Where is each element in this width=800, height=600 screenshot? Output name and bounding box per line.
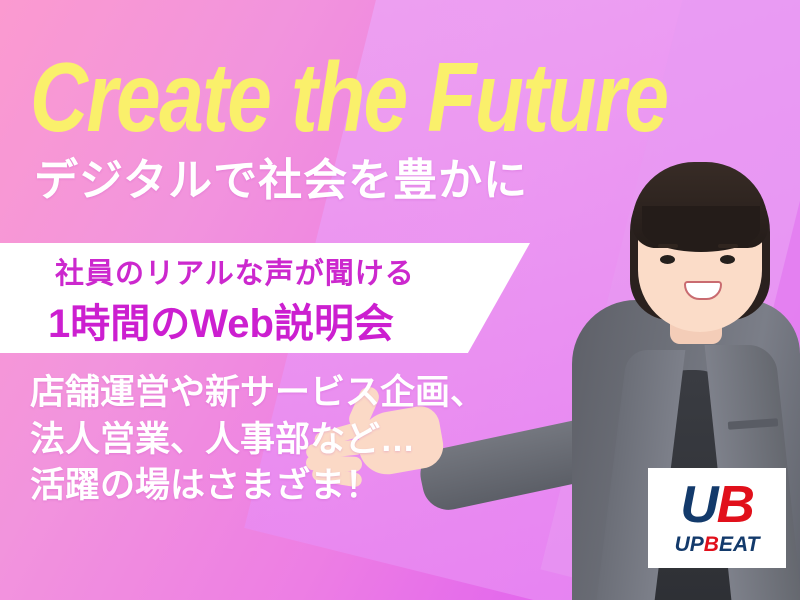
body-copy-line-1: 店舗運営や新サービス企画、 (30, 370, 485, 417)
smiling-mouth (684, 281, 722, 300)
body-copy-line-3: 活躍の場はさまざま！ (30, 463, 485, 510)
band-subheading: 社員のリアルな声が聞ける (55, 250, 415, 292)
hair-fringe (642, 206, 760, 252)
logo-wordmark: UPBEAT (675, 534, 760, 555)
logo-letter-b: B (717, 476, 753, 534)
blazer-pocket (728, 418, 778, 429)
face (638, 180, 762, 332)
eye-right (720, 255, 735, 264)
band-heading: 1時間のWeb説明会 (48, 291, 394, 349)
logo-word-up: UP (675, 533, 704, 556)
logo-letter-u: U (681, 476, 717, 534)
headline: Create the Future (30, 48, 667, 146)
neck (670, 288, 722, 344)
body-copy-line-2: 法人営業、人事部など… (30, 417, 485, 464)
hair-front (632, 162, 768, 248)
hair-back (630, 162, 770, 320)
eyebrow-right (718, 244, 738, 248)
logo-word-eat: EAT (719, 533, 759, 556)
eyebrow-left (658, 244, 678, 248)
logo-word-b: B (704, 533, 719, 556)
eye-left (660, 255, 675, 264)
recruit-banner: Create the Future デジタルで社会を豊かに 社員のリアルな声が聞… (0, 0, 800, 600)
subtitle: デジタルで社会を豊かに (34, 158, 528, 204)
body-copy: 店舗運営や新サービス企画、 法人営業、人事部など… 活躍の場はさまざま！ (30, 370, 485, 510)
upbeat-logo[interactable]: UB UPBEAT (648, 468, 786, 568)
logo-monogram: UB (681, 481, 754, 530)
